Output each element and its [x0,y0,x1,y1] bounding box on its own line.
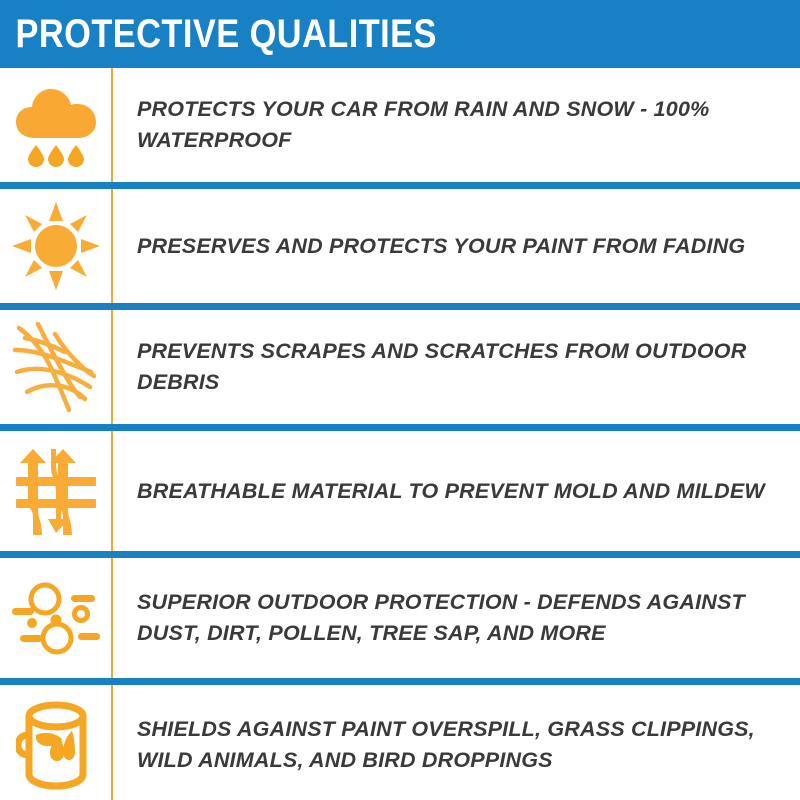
feature-row-breathable: BREATHABLE MATERIAL TO PREVENT MOLD AND … [0,431,800,551]
feature-row-uv-fade: PRESERVES AND PROTECTS YOUR PAINT FROM F… [0,189,800,303]
feature-row-waterproof: PROTECTS YOUR CAR FROM RAIN AND SNOW - 1… [0,68,800,182]
header-banner: PROTECTIVE QUALITIES [0,0,800,68]
feature-text: SUPERIOR OUTDOOR PROTECTION - DEFENDS AG… [137,587,786,648]
row-divider [0,182,800,189]
icon-cell [0,189,111,303]
text-cell: SHIELDS AGAINST PAINT OVERSPILL, GRASS C… [113,685,800,800]
icon-cell [0,68,111,182]
text-cell: SUPERIOR OUTDOOR PROTECTION - DEFENDS AG… [113,558,800,678]
text-cell: PREVENTS SCRAPES AND SCRATCHES FROM OUTD… [113,310,800,424]
feature-row-overspill: SHIELDS AGAINST PAINT OVERSPILL, GRASS C… [0,685,800,800]
text-cell: PRESERVES AND PROTECTS YOUR PAINT FROM F… [113,189,800,303]
feature-row-scratch: PREVENTS SCRAPES AND SCRATCHES FROM OUTD… [0,310,800,424]
feature-text: BREATHABLE MATERIAL TO PREVENT MOLD AND … [137,476,765,507]
feature-text: PRESERVES AND PROTECTS YOUR PAINT FROM F… [137,231,745,262]
feature-rows: PROTECTS YOUR CAR FROM RAIN AND SNOW - 1… [0,68,800,800]
icon-cell [0,310,111,424]
text-cell: BREATHABLE MATERIAL TO PREVENT MOLD AND … [113,431,800,551]
feature-text: SHIELDS AGAINST PAINT OVERSPILL, GRASS C… [137,714,786,775]
feature-text: PREVENTS SCRAPES AND SCRATCHES FROM OUTD… [137,336,786,397]
icon-cell [0,431,111,551]
dust-particles-icon [10,579,102,657]
protective-qualities-infographic: PROTECTIVE QUALITIES PROTECTS YOUR CAR F… [0,0,800,800]
page-title: PROTECTIVE QUALITIES [0,14,437,54]
row-divider [0,424,800,431]
rain-cloud-icon [13,83,99,167]
row-divider [0,678,800,685]
breathable-arrows-icon [15,447,97,535]
feature-row-dust: SUPERIOR OUTDOOR PROTECTION - DEFENDS AG… [0,558,800,678]
text-cell: PROTECTS YOUR CAR FROM RAIN AND SNOW - 1… [113,68,800,182]
icon-cell [0,685,111,800]
feature-text: PROTECTS YOUR CAR FROM RAIN AND SNOW - 1… [137,94,786,155]
sun-icon [12,202,100,290]
row-divider [0,303,800,310]
icon-cell [0,558,111,678]
scratch-mesh-icon [11,320,101,414]
row-divider [0,551,800,558]
paint-can-icon [16,699,96,791]
